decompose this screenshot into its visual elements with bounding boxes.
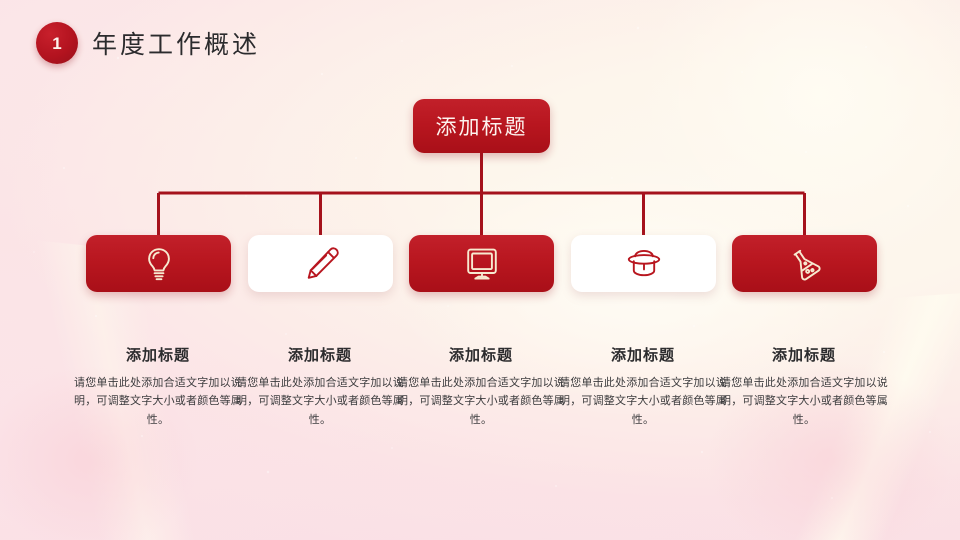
slide-header: 1 年度工作概述 xyxy=(0,0,960,86)
diagram-root-node[interactable]: 添加标题 xyxy=(413,99,550,153)
page-title: 年度工作概述 xyxy=(92,22,260,64)
caption-title: 添加标题 xyxy=(719,348,889,365)
slide-canvas: 1 年度工作概述 添加标题 xyxy=(0,0,960,540)
diagram-node-1[interactable] xyxy=(86,235,231,292)
lightbulb-icon xyxy=(142,246,176,282)
caption-title: 添加标题 xyxy=(73,348,243,365)
section-number-text: 1 xyxy=(52,35,61,52)
caption-3: 添加标题 请您单击此处添加合适文字加以说明，可调整文字大小或者颜色等属性。 xyxy=(396,348,566,430)
caption-5: 添加标题 请您单击此处添加合适文字加以说明，可调整文字大小或者颜色等属性。 xyxy=(719,348,889,430)
diagram-node-3[interactable] xyxy=(409,235,554,292)
caption-body: 请您单击此处添加合适文字加以说明，可调整文字大小或者颜色等属性。 xyxy=(558,374,728,431)
section-number-badge: 1 xyxy=(36,22,78,64)
monitor-icon xyxy=(463,246,501,282)
caption-title: 添加标题 xyxy=(235,348,405,365)
diagram-node-5[interactable] xyxy=(732,235,877,292)
caption-body: 请您单击此处添加合适文字加以说明，可调整文字大小或者颜色等属性。 xyxy=(719,374,889,431)
pencil-icon xyxy=(302,245,340,283)
graduation-cap-icon xyxy=(625,248,663,280)
diagram-node-row xyxy=(0,235,960,293)
caption-2: 添加标题 请您单击此处添加合适文字加以说明，可调整文字大小或者颜色等属性。 xyxy=(235,348,405,430)
diagram-root-label: 添加标题 xyxy=(436,111,528,141)
diagram-node-4[interactable] xyxy=(571,235,716,292)
caption-body: 请您单击此处添加合适文字加以说明，可调整文字大小或者颜色等属性。 xyxy=(73,374,243,431)
caption-4: 添加标题 请您单击此处添加合适文字加以说明，可调整文字大小或者颜色等属性。 xyxy=(558,348,728,430)
caption-body: 请您单击此处添加合适文字加以说明，可调整文字大小或者颜色等属性。 xyxy=(235,374,405,431)
caption-title: 添加标题 xyxy=(396,348,566,365)
flask-icon xyxy=(787,246,823,282)
caption-title: 添加标题 xyxy=(558,348,728,365)
caption-1: 添加标题 请您单击此处添加合适文字加以说明，可调整文字大小或者颜色等属性。 xyxy=(73,348,243,430)
diagram-node-2[interactable] xyxy=(248,235,393,292)
caption-body: 请您单击此处添加合适文字加以说明，可调整文字大小或者颜色等属性。 xyxy=(396,374,566,431)
